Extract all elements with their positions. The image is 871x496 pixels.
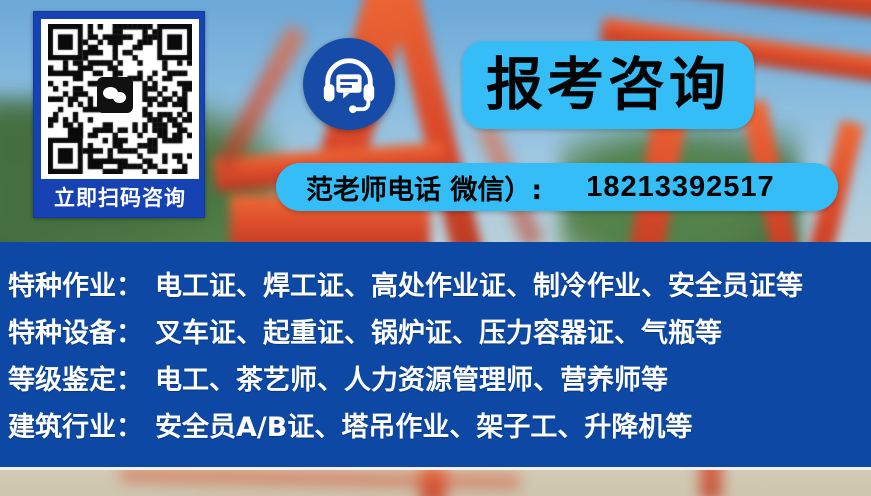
certificate-items: 叉车证、起重证、锅炉证、压力容器证、气瓶等: [155, 311, 722, 350]
headset-support-icon: [303, 38, 395, 130]
certificate-row: 建筑行业： 安全员A/B证、塔吊作业、架子工、升降机等: [8, 405, 871, 452]
qr-code-card[interactable]: 立即扫码咨询: [33, 11, 205, 218]
certificate-row: 等级鉴定： 电工、茶艺师、人力资源管理师、营养师等: [8, 358, 871, 405]
certificate-category: 特种设备：: [8, 311, 143, 350]
qr-code-image[interactable]: [41, 19, 199, 179]
consultation-badge[interactable]: 报考咨询: [462, 41, 754, 129]
certificate-row: 特种作业： 电工证、焊工证、高处作业证、制冷作业、安全员证等: [8, 264, 871, 311]
certificate-items: 安全员A/B证、塔吊作业、架子工、升降机等: [155, 405, 692, 444]
certificate-list-panel: 特种作业： 电工证、焊工证、高处作业证、制冷作业、安全员证等 特种设备： 叉车证…: [0, 242, 871, 470]
certificate-row: 特种设备： 叉车证、起重证、锅炉证、压力容器证、气瓶等: [8, 311, 871, 358]
phone-label: 范老师电话 微信）:: [306, 168, 542, 207]
certificate-category: 特种作业：: [8, 264, 143, 303]
certificate-items: 电工、茶艺师、人力资源管理师、营养师等: [155, 358, 668, 397]
phone-number[interactable]: 18213392517: [586, 171, 774, 204]
certificate-category: 建筑行业：: [8, 405, 143, 444]
certificate-items: 电工证、焊工证、高处作业证、制冷作业、安全员证等: [155, 264, 803, 303]
promotional-poster: 立即扫码咨询 报考咨询 范老师电话 微信）: 18213392517 特种作业：…: [0, 0, 871, 496]
phone-contact-pill[interactable]: 范老师电话 微信）: 18213392517: [276, 163, 838, 211]
qr-code-label: 立即扫码咨询: [41, 179, 199, 217]
wechat-logo-icon: [97, 77, 133, 113]
certificate-category: 等级鉴定：: [8, 358, 143, 397]
consultation-badge-label: 报考咨询: [486, 57, 730, 114]
